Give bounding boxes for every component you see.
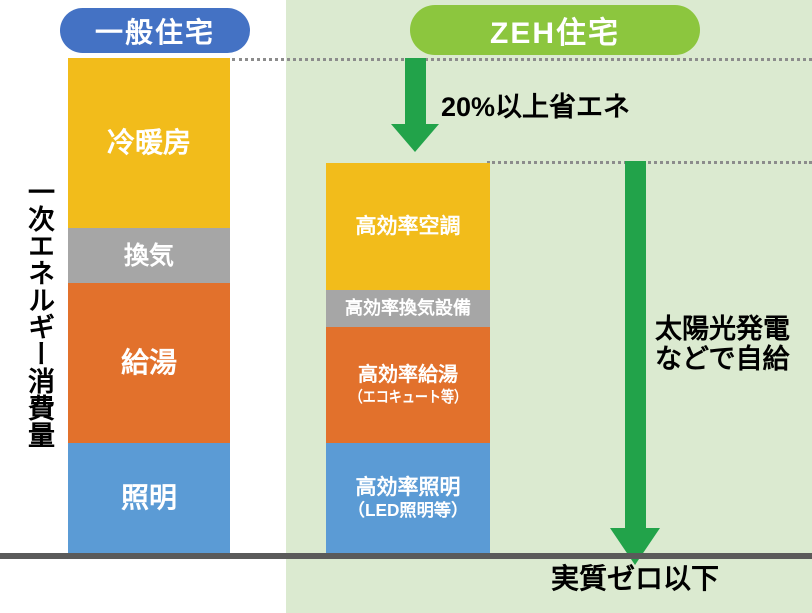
bar-segment-zeh-high-efficiency-hot-water: 高効率給湯 （エコキュート等） — [326, 327, 490, 443]
arrow-head — [610, 528, 660, 565]
annotation-solar-line2: などで自給 — [655, 344, 790, 374]
chart-baseline — [0, 553, 812, 559]
arrow-shaft — [405, 58, 426, 124]
guide-line-general-top — [232, 58, 812, 61]
bar-segment-general-lighting: 照明 — [68, 443, 230, 553]
arrow-head — [391, 124, 439, 152]
header-label-general-house: 一般住宅 — [95, 11, 215, 51]
bar-segment-zeh-high-efficiency-ventilation: 高効率換気設備 — [326, 290, 490, 327]
arrow-shaft — [625, 161, 646, 528]
bar-segment-label: 高効率空調 — [356, 215, 461, 239]
bar-segment-zeh-high-efficiency-lighting: 高効率照明 （LED照明等） — [326, 443, 490, 553]
annotation-solar-self-supply: 太陽光発電 などで自給 — [655, 314, 790, 374]
axis-caption-primary-energy: 一次エネルギー消費量 — [8, 178, 52, 448]
annotation-net-zero: 実質ゼロ以下 — [551, 563, 719, 594]
bar-segment-label: 高効率換気設備 — [345, 298, 471, 318]
bar-segment-sublabel: （LED照明等） — [348, 501, 468, 520]
guide-line-zeh-top — [487, 161, 812, 164]
header-pill-zeh-house: ZEH住宅 — [410, 5, 700, 55]
header-pill-general-house: 一般住宅 — [60, 8, 250, 53]
bar-segment-label: 給湯 — [121, 347, 177, 378]
bar-segment-sublabel: （エコキュート等） — [349, 389, 467, 406]
bar-segment-label: 高効率照明 — [356, 476, 461, 500]
bar-segment-label: 換気 — [124, 242, 174, 270]
bar-segment-general-heating-cooling: 冷暖房 — [68, 58, 230, 228]
bar-segment-general-hot-water: 給湯 — [68, 283, 230, 443]
bar-segment-label: 高効率給湯 — [358, 364, 458, 386]
annotation-solar-line1: 太陽光発電 — [655, 314, 790, 344]
diagram-canvas: 一般住宅 ZEH住宅 一次エネルギー消費量 冷暖房 換気 給湯 照明 高効率空調… — [0, 0, 812, 613]
bar-segment-general-ventilation: 換気 — [68, 228, 230, 283]
bar-segment-label: 照明 — [121, 482, 177, 513]
annotation-energy-saving: 20%以上省エネ — [441, 92, 630, 122]
bar-segment-label: 冷暖房 — [107, 127, 191, 158]
header-label-zeh-house: ZEH住宅 — [490, 8, 620, 52]
bar-segment-zeh-high-efficiency-ac: 高効率空調 — [326, 163, 490, 290]
